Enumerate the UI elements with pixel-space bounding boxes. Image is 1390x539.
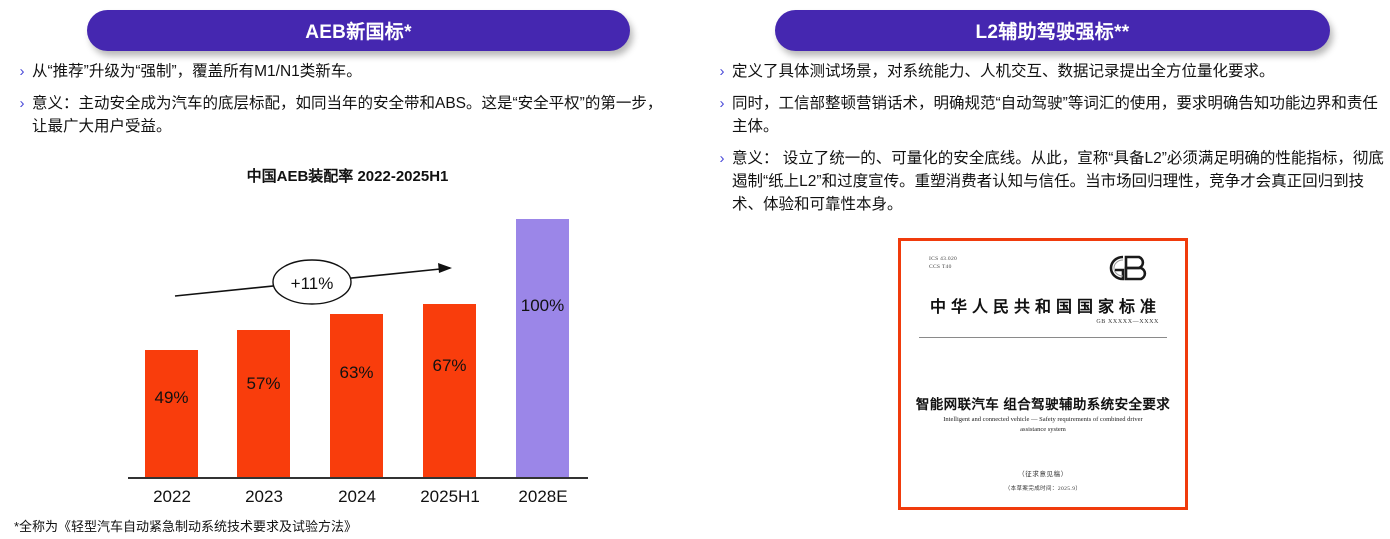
x-tick-2025h1: 2025H1 <box>405 487 495 507</box>
chevron-right-icon: › <box>712 147 732 170</box>
left-footnote: *全称为《轻型汽车自动紧急制动系统技术要求及试验方法》 <box>14 516 357 535</box>
gb-classification-codes: ICS 43.020 CCS T40 <box>929 255 957 271</box>
list-item: › 意义： 设立了统一的、可量化的安全底线。从此，宣称“具备L2”必须满足明确的… <box>712 147 1384 216</box>
right-panel-header-pill: L2辅助驾驶强标** <box>775 10 1330 51</box>
gb-draft-date: （本草案完成时间：2025.9） <box>901 484 1185 492</box>
gb-national-standard-title: 中华人民共和国国家标准 <box>901 293 1185 317</box>
x-tick-2023: 2023 <box>219 487 309 507</box>
chart-x-axis <box>128 477 588 479</box>
chevron-right-icon: › <box>12 92 32 115</box>
bar-value-label: 100% <box>516 296 569 316</box>
list-item-text: 定义了具体测试场景，对系统能力、人机交互、数据记录提出全方位量化要求。 <box>732 60 1384 83</box>
list-item: › 定义了具体测试场景，对系统能力、人机交互、数据记录提出全方位量化要求。 <box>712 60 1384 83</box>
list-item-text: 意义：主动安全成为汽车的底层标配，如同当年的安全带和ABS。这是“安全平权”的第… <box>32 92 672 138</box>
list-item: › 从“推荐”升级为“强制”，覆盖所有M1/N1类新车。 <box>12 60 672 83</box>
chart-title: 中国AEB装配率 2022-2025H1 <box>0 165 695 186</box>
x-tick-2024: 2024 <box>312 487 402 507</box>
bar-value-label: 49% <box>145 388 198 408</box>
gb-draft-status: （征求意见稿） <box>901 468 1185 478</box>
bar-2028e: 100% <box>516 219 569 477</box>
aeb-adoption-bar-chart: 中国AEB装配率 2022-2025H1 49% 57% 63% 67% 100… <box>0 165 695 515</box>
list-item-text: 同时，工信部整顿营销话术，明确规范“自动驾驶”等词汇的使用，要求明确告知功能边界… <box>732 92 1384 138</box>
left-panel: AEB新国标* › 从“推荐”升级为“强制”，覆盖所有M1/N1类新车。 › 意… <box>0 0 695 539</box>
list-item-text: 从“推荐”升级为“强制”，覆盖所有M1/N1类新车。 <box>32 60 672 83</box>
bar-2024: 63% <box>330 314 383 477</box>
x-tick-2028e: 2028E <box>498 487 588 507</box>
gb-document-title-en: Intelligent and connected vehicle — Safe… <box>935 415 1151 435</box>
gb-cover-inner: ICS 43.020 CCS T40 中华人民共和国国家标准 GB XXXXX—… <box>901 241 1185 507</box>
chevron-right-icon: › <box>12 60 32 83</box>
gb-ics-code: ICS 43.020 <box>929 255 957 263</box>
chevron-right-icon: › <box>712 60 732 83</box>
gb-standard-cover-image: ICS 43.020 CCS T40 中华人民共和国国家标准 GB XXXXX—… <box>898 238 1188 510</box>
bar-value-label: 67% <box>423 356 476 376</box>
gb-document-title-cn: 智能网联汽车 组合驾驶辅助系统安全要求 <box>901 393 1185 413</box>
bar-2022: 49% <box>145 350 198 477</box>
left-panel-title: AEB新国标* <box>305 17 412 44</box>
left-bullet-list: › 从“推荐”升级为“强制”，覆盖所有M1/N1类新车。 › 意义：主动安全成为… <box>12 60 672 147</box>
chevron-right-icon: › <box>712 92 732 115</box>
right-panel-title: L2辅助驾驶强标** <box>976 17 1130 44</box>
bar-value-label: 57% <box>237 374 290 394</box>
bar-value-label: 63% <box>330 363 383 383</box>
bar-2023: 57% <box>237 330 290 477</box>
gb-standard-number: GB XXXXX—XXXX <box>1096 319 1159 325</box>
bar-2025h1: 67% <box>423 304 476 477</box>
gb-divider <box>919 337 1167 338</box>
left-panel-header-pill: AEB新国标* <box>87 10 630 51</box>
list-item-text: 意义： 设立了统一的、可量化的安全底线。从此，宣称“具备L2”必须满足明确的性能… <box>732 147 1384 216</box>
chart-plot-area: 49% 57% 63% 67% 100% 2022 2023 2024 2025… <box>128 195 588 479</box>
gb-ccs-code: CCS T40 <box>929 263 957 271</box>
list-item: › 意义：主动安全成为汽车的底层标配，如同当年的安全带和ABS。这是“安全平权”… <box>12 92 672 138</box>
x-tick-2022: 2022 <box>127 487 217 507</box>
gb-logo-icon <box>1093 251 1159 285</box>
right-bullet-list: › 定义了具体测试场景，对系统能力、人机交互、数据记录提出全方位量化要求。 › … <box>712 60 1384 225</box>
list-item: › 同时，工信部整顿营销话术，明确规范“自动驾驶”等词汇的使用，要求明确告知功能… <box>712 92 1384 138</box>
